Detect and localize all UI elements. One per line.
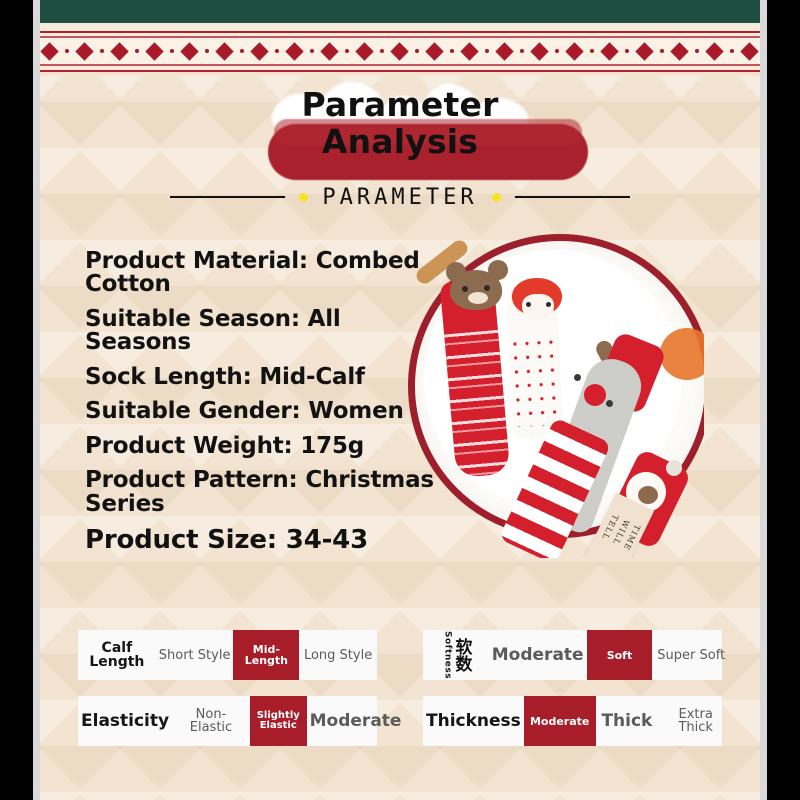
diamond-icon [425,42,443,60]
parameter-table: ElasticityNon-ElasticSlightly ElasticMod… [78,696,377,746]
reindeer-eye-icon [606,400,613,407]
diamond-icon [705,42,723,60]
parameter-label-vertical: Softness [442,631,451,679]
parameter-tables: Calf LengthShort StyleMid-LengthLong Sty… [40,630,760,762]
parameter-table-row: Calf LengthShort StyleMid-LengthLong Sty… [40,630,760,680]
yellow-dot-icon [299,193,308,202]
dot-icon [275,49,279,53]
infographic-page: Parameter Analysis PARAMETER Product Mat… [0,0,800,800]
subtitle-rule-right [515,196,630,198]
diamond-icon [495,42,513,60]
left-black-frame [0,0,33,800]
dot-icon [135,49,139,53]
dot-icon [415,49,419,53]
diamond-icon [390,42,408,60]
diamond-icon [250,42,268,60]
diamond-icon [180,42,198,60]
diamond-row [40,45,760,58]
dot-icon [660,49,664,53]
diamond-icon [460,42,478,60]
top-cream-band [40,23,760,31]
parameter-option[interactable]: Moderate [307,696,405,746]
parameter-label: Softness软数 [423,630,489,680]
diamond-icon [530,42,548,60]
dot-icon [485,49,489,53]
bear-snout-icon [468,292,488,304]
diamond-icon [40,42,58,60]
parameter-label: Thickness [423,696,524,746]
spec-item: Product Size: 34-43 [85,527,445,554]
santa-hat-pom-icon [666,460,682,476]
dot-icon [590,49,594,53]
parameter-option[interactable]: Thick [596,696,659,746]
parameter-table: Softness软数ModerateSoftSuper Soft [423,630,722,680]
content-canvas: Parameter Analysis PARAMETER Product Mat… [40,0,760,800]
parameter-option-selected[interactable]: Soft [587,630,653,680]
spec-item: Suitable Gender: Women [85,400,445,423]
diamond-icon [670,42,688,60]
diamond-border-strip [40,38,760,64]
bear-eye-icon [484,285,490,291]
fox-face-icon [522,294,554,320]
dot-icon [520,49,524,53]
dot-icon [240,49,244,53]
diamond-icon [145,42,163,60]
page-title-line2: Analysis [40,122,760,161]
diamond-icon [600,42,618,60]
top-green-band [40,0,760,23]
bear-eye-icon [462,286,468,292]
parameter-option-selected[interactable]: Mid-Length [233,630,299,680]
parameter-label-cn: 软数 [452,638,469,672]
parameter-label: Elasticity [78,696,172,746]
diamond-icon [110,42,128,60]
parameter-label: Calf Length [78,630,156,680]
diamond-icon [565,42,583,60]
parameter-option[interactable]: Short Style [156,630,234,680]
dot-icon [205,49,209,53]
dot-icon [450,49,454,53]
parameter-option[interactable]: Super Soft [652,630,730,680]
diamond-icon [215,42,233,60]
top-cream-band-3 [40,72,760,76]
spec-item: Product Weight: 175g [85,435,445,458]
spec-item: Product Material: Combed Cotton [85,250,445,297]
parameter-table: ThicknessModerateThickExtra Thick [423,696,722,746]
dot-icon [100,49,104,53]
diamond-icon [75,42,93,60]
left-edge-strip [33,0,40,800]
fox-eye-icon [526,302,531,307]
parameter-option[interactable]: Long Style [299,630,377,680]
parameter-option-selected[interactable]: Slightly Elastic [250,696,307,746]
spec-item: Product Pattern: Christmas Series [85,469,445,516]
subtitle-block: PARAMETER [40,182,760,212]
reindeer-nose-icon [584,384,606,406]
dot-icon [345,49,349,53]
right-edge-strip [760,0,767,800]
reindeer-eye-icon [574,374,581,381]
diamond-icon [635,42,653,60]
dot-icon [170,49,174,53]
spec-item: Suitable Season: All Seasons [85,308,445,355]
yellow-dot-icon [492,193,501,202]
diamond-icon [320,42,338,60]
subtitle-rule-left [170,196,285,198]
parameter-option-selected[interactable]: Moderate [524,696,596,746]
dot-icon [310,49,314,53]
dot-icon [625,49,629,53]
dot-icon [555,49,559,53]
spec-item: Sock Length: Mid-Calf [85,366,445,389]
parameter-option[interactable]: Non-Elastic [172,696,250,746]
parameter-table: Calf LengthShort StyleMid-LengthLong Sty… [78,630,377,680]
diamond-icon [355,42,373,60]
page-title-line1: Parameter [40,85,760,124]
bear-head-icon [450,270,502,310]
parameter-option[interactable]: Moderate [489,630,587,680]
diamond-icon [285,42,303,60]
parameter-option[interactable]: Extra Thick [658,696,733,746]
title-block: Parameter Analysis [40,80,760,180]
subtitle-text: PARAMETER [322,185,477,210]
dot-icon [65,49,69,53]
dot-icon [730,49,734,53]
diamond-icon [740,42,758,60]
fox-eye-icon [546,302,551,307]
right-black-frame [767,0,800,800]
dot-icon [695,49,699,53]
parameter-table-row: ElasticityNon-ElasticSlightly ElasticMod… [40,696,760,746]
santa-beard-icon [638,486,658,504]
spec-list: Product Material: Combed CottonSuitable … [85,250,445,565]
dot-icon [380,49,384,53]
